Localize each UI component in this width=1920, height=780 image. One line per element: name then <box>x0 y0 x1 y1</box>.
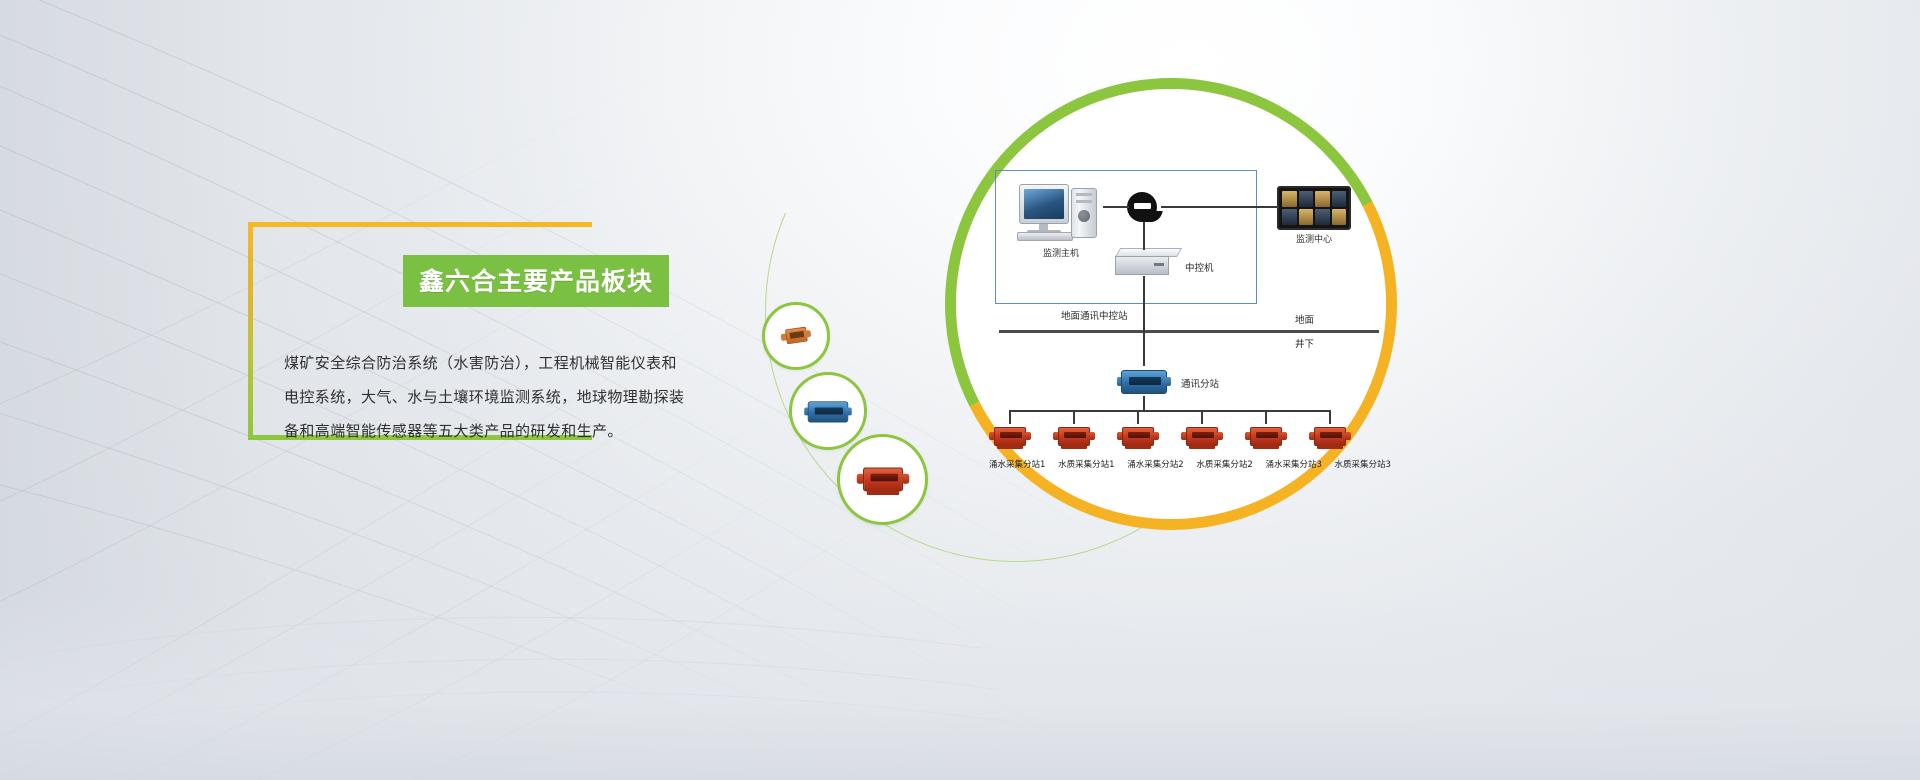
node-central-controller <box>1115 248 1177 278</box>
station-label-4: 水质采集分站2 <box>1196 458 1252 470</box>
station-6-icon <box>1309 424 1351 450</box>
station-label-3: 涌水采集分站2 <box>1127 458 1183 470</box>
surface-control-box-label: 地面通讯中控站 <box>1061 308 1128 322</box>
station-label-6: 水质采集分站3 <box>1335 458 1391 470</box>
node-monitor-center-label: 监测中心 <box>1277 232 1351 245</box>
link-controller-down-b <box>1143 330 1145 366</box>
screen-wall-icon <box>1277 186 1351 230</box>
bubble-red-device[interactable] <box>837 434 928 525</box>
orange-device-icon <box>780 325 812 347</box>
comms-substation-icon <box>1117 366 1171 396</box>
station-1-icon <box>989 424 1031 450</box>
node-comms-substation <box>1117 366 1171 396</box>
description-line-2: 电控系统，大气、水与土壤环境监测系统，地球物理勘探装 <box>284 380 714 414</box>
ground-divider-line <box>999 330 1379 333</box>
station-label-2: 水质采集分站1 <box>1058 458 1114 470</box>
station-label-5: 涌水采集分站3 <box>1265 458 1321 470</box>
product-description: 煤矿安全综合防治系统（水害防治），工程机械智能仪表和 电控系统，大气、水与土壤环… <box>284 346 714 448</box>
blue-device-icon <box>804 398 852 424</box>
product-intro-panel: 鑫六合主要产品板块 煤矿安全综合防治系统（水害防治），工程机械智能仪表和 电控系… <box>248 222 592 440</box>
station-2-icon <box>1053 424 1095 450</box>
node-monitor-center: 监测中心 <box>1277 186 1351 245</box>
bus-drop-3 <box>1137 410 1139 424</box>
network-e-symbol <box>1127 192 1161 222</box>
panel-frame-top <box>248 222 592 227</box>
panel-frame-left <box>248 222 253 440</box>
red-device-icon <box>856 463 909 496</box>
description-line-3: 备和高端智能传感器等五大类产品的研发和生产。 <box>284 414 714 448</box>
internet-e-icon <box>1127 192 1161 222</box>
background-bottom-fade <box>0 590 1920 780</box>
collection-stations-row: 涌水采集分站1 水质采集分站1 涌水采集分站2 水质采集分站2 涌水采集分站3 … <box>995 402 1385 472</box>
bubble-blue-device[interactable] <box>789 372 867 450</box>
link-host-to-e <box>1103 206 1129 208</box>
link-e-to-center <box>1161 206 1279 208</box>
node-central-controller-label: 中控机 <box>1185 260 1214 274</box>
page-title-text: 鑫六合主要产品板块 <box>419 267 653 296</box>
bus-drop-6 <box>1329 410 1331 424</box>
description-line-1: 煤矿安全综合防治系统（水害防治），工程机械智能仪表和 <box>284 346 714 380</box>
system-architecture-diagram: 监测主机 监测中心 中控机 地面通讯中控站 <box>905 40 1525 600</box>
page-title: 鑫六合主要产品板块 <box>403 255 669 307</box>
diagram-inner: 监测主机 监测中心 中控机 地面通讯中控站 <box>995 170 1385 470</box>
station-5-icon <box>1245 424 1287 450</box>
computer-icon <box>1017 182 1105 244</box>
node-monitor-host-label: 监测主机 <box>1017 246 1105 259</box>
bus-drop-5 <box>1265 410 1267 424</box>
bubble-orange-device[interactable] <box>762 302 830 370</box>
underground-zone-label: 井下 <box>1295 336 1314 350</box>
link-e-to-controller <box>1143 222 1145 250</box>
bus-drop-2 <box>1073 410 1075 424</box>
station-label-1: 涌水采集分站1 <box>989 458 1045 470</box>
station-4-icon <box>1181 424 1223 450</box>
station-3-icon <box>1117 424 1159 450</box>
controller-box-icon <box>1115 248 1177 278</box>
surface-zone-label: 地面 <box>1295 312 1314 326</box>
bus-drop-1 <box>1009 410 1011 424</box>
link-controller-down-a <box>1143 276 1145 330</box>
bus-drop-4 <box>1201 410 1203 424</box>
collection-stations-labels: 涌水采集分站1 水质采集分站1 涌水采集分站2 水质采集分站2 涌水采集分站3 … <box>989 458 1391 470</box>
node-monitor-host: 监测主机 <box>1017 182 1105 259</box>
node-comms-substation-label: 通讯分站 <box>1181 376 1219 390</box>
